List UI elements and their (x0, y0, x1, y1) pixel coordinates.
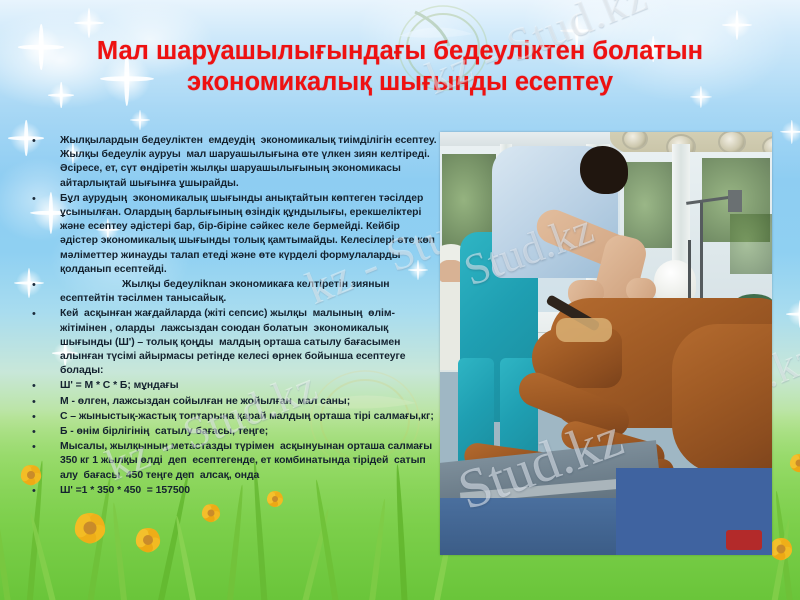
list-item: • Бұл аурудың экономикалық шығынды анықт… (22, 192, 437, 277)
list-item: • М - өлген, лажсыздан сойылған не жойыл… (22, 395, 437, 409)
flower-decoration (62, 500, 118, 556)
photo-horse-mane (556, 318, 612, 342)
list-item-text: Ш' =1 * 350 * 450 = 157500 (60, 484, 437, 498)
list-item: • Б - өнім бірлігінің сатылу бағасы, тең… (22, 425, 437, 439)
bullet-list: • Жылқылардын бедеуліктен емдеудің эконо… (22, 134, 437, 499)
list-item-text: Жылқы бедеуліknан экономикаға келтіретін… (60, 278, 437, 306)
slide-title-line-1: Мал шаруашылығындағы бедеуліктен болатын (40, 36, 760, 67)
photo-surgeon-head (580, 146, 628, 194)
presentation-slide: Мал шаруашылығындағы бедеуліктен болатын… (0, 0, 800, 600)
grass-blade (174, 515, 198, 600)
list-item: • Кей асқынған жағдайларда (жіті сепсис)… (22, 307, 437, 378)
flower-decoration (128, 520, 168, 560)
grass-blade (368, 498, 388, 600)
bullet-marker-icon: • (22, 134, 60, 148)
sparkle-icon (74, 8, 104, 38)
veterinary-surgery-photo[interactable]: Stud.kz Stud.kz (440, 132, 772, 555)
grass-blade (0, 491, 12, 600)
bullet-marker-icon: • (22, 484, 60, 498)
photo-horse-rump (672, 324, 772, 474)
grass-blade (111, 502, 128, 600)
photo-red-cloth (726, 530, 762, 550)
list-item-text: М - өлген, лажсыздан сойылған не жойылға… (60, 395, 437, 409)
photo-foliage (624, 162, 676, 248)
bullet-marker-icon: • (22, 278, 60, 292)
photo-equipment-box (728, 190, 742, 212)
flower-decoration (784, 448, 800, 478)
list-item-text: С – жыныстық-жастық топтарына қарай малд… (60, 410, 437, 424)
bullet-marker-icon: • (22, 410, 60, 424)
sparkle-icon (130, 110, 150, 130)
list-item-text: Б - өнім бірлігінің сатылу бағасы, теңге… (60, 425, 437, 439)
list-item-text: Мысалы, жылқының метастазды түрімен асқы… (60, 440, 437, 483)
list-item-text: Ш' = М * С * Б; мұндағы (60, 379, 437, 393)
list-item-text: Бұл аурудың экономикалық шығынды анықтай… (60, 192, 437, 277)
list-item-text: Кей асқынған жағдайларда (жіті сепсис) ж… (60, 307, 437, 378)
bullet-marker-icon: • (22, 395, 60, 409)
photo-foliage (730, 214, 772, 274)
grass-blade (226, 484, 245, 600)
list-item: • С – жыныстық-жастық топтарына қарай ма… (22, 410, 437, 424)
bullet-marker-icon: • (22, 307, 60, 321)
bullet-marker-icon: • (22, 440, 60, 454)
bullet-marker-icon: • (22, 425, 60, 439)
list-item: • Ш' = М * С * Б; мұндағы (22, 379, 437, 393)
bullet-marker-icon: • (22, 379, 60, 393)
slide-title: Мал шаруашылығындағы бедеуліктен болатын… (40, 36, 760, 98)
sparkle-icon (786, 300, 800, 328)
slide-title-line-2: экономикалық шығынды есептеу (40, 67, 760, 98)
list-item: • Жылқы бедеуліknан экономикаға келтірет… (22, 278, 437, 306)
list-item: • Ш' =1 * 350 * 450 = 157500 (22, 484, 437, 498)
bullet-marker-icon: • (22, 192, 60, 206)
list-item-text: Жылқылардын бедеуліктен емдеудің экономи… (60, 134, 437, 191)
flower-decoration (196, 498, 226, 528)
sparkle-icon (780, 120, 800, 144)
list-item: • Жылқылардын бедеуліктен емдеудің эконо… (22, 134, 437, 191)
list-item: • Мысалы, жылқының метастазды түрімен ас… (22, 440, 437, 483)
